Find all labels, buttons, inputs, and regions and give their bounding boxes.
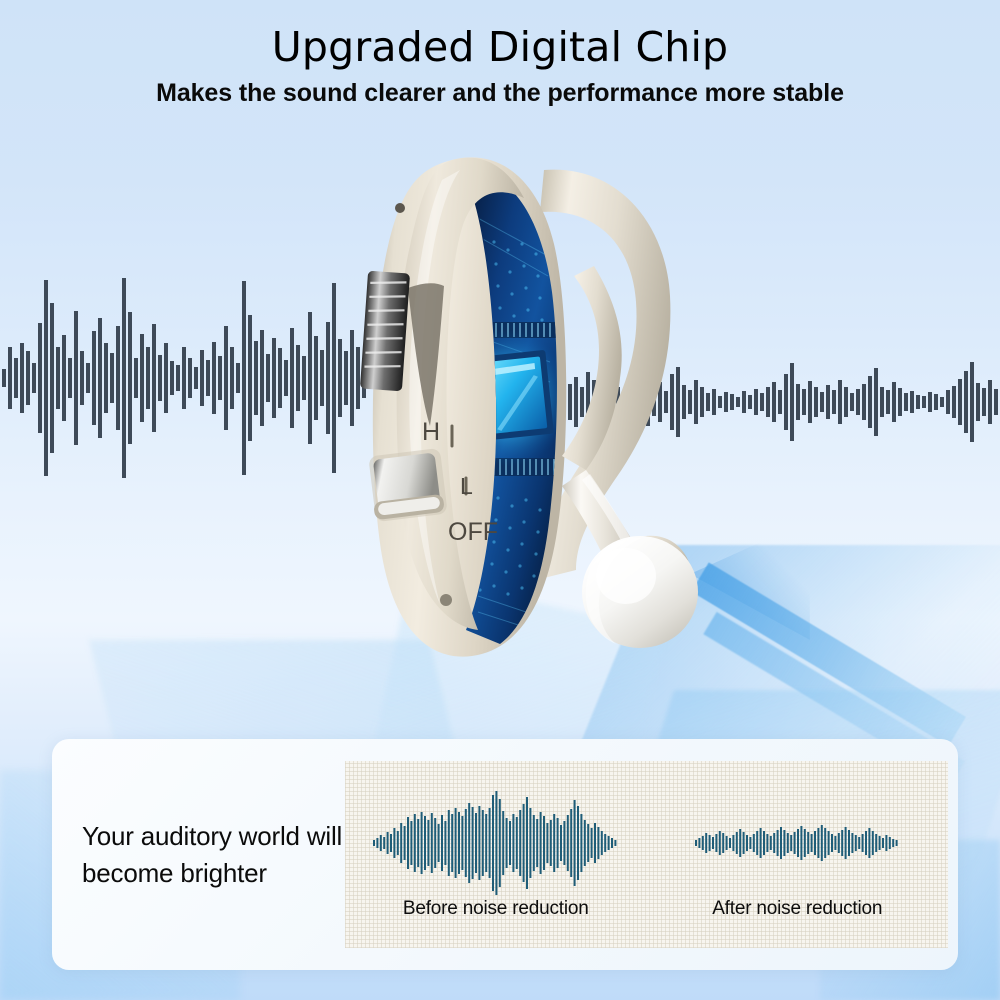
waveform-bar — [850, 393, 854, 411]
waveform-bar — [763, 831, 765, 855]
waveform-bar — [26, 351, 30, 405]
comparison-label-after: After noise reduction — [712, 898, 882, 920]
waveform-bar — [976, 383, 980, 421]
waveform-bar — [98, 318, 102, 438]
waveform-bar — [533, 815, 535, 871]
waveform-bar — [332, 283, 336, 473]
waveform-bar — [964, 371, 968, 433]
ambient-waveform-left — [0, 248, 376, 508]
waveform-bar — [128, 312, 132, 444]
waveform-bar — [218, 356, 222, 400]
waveform-svg — [695, 790, 899, 896]
waveform-bar — [122, 278, 126, 478]
waveform-bar — [904, 393, 908, 411]
waveform-bar — [557, 818, 559, 868]
waveform-bar — [492, 795, 494, 891]
waveform-bar — [448, 810, 450, 876]
waveform-bar — [236, 363, 240, 393]
switch-label-l: L — [460, 473, 473, 499]
waveform-bar — [475, 813, 477, 873]
waveform-bar — [709, 835, 711, 851]
waveform-bar — [880, 387, 884, 417]
waveform-bar — [807, 832, 809, 854]
waveform-bar — [778, 390, 782, 414]
waveform-bar — [598, 827, 600, 859]
waveform-bar — [820, 392, 824, 412]
waveform-bar — [224, 326, 228, 430]
waveform-bar — [320, 350, 324, 406]
waveform-bar — [832, 390, 836, 414]
waveform-bar — [513, 814, 515, 872]
waveform-bar — [808, 381, 812, 423]
waveform-bar — [260, 330, 264, 426]
waveform-bar — [796, 384, 800, 420]
waveform-bar — [577, 806, 579, 880]
comparison-before: Before noise reduction — [357, 790, 634, 920]
waveform-bar — [116, 326, 120, 430]
waveform-bar — [574, 800, 576, 886]
hearing-aid-device: H L OFF — [348, 126, 778, 666]
waveform-bar — [611, 838, 613, 848]
waveform-bar — [547, 823, 549, 863]
switch-label-off: OFF — [448, 518, 498, 546]
waveform-bar — [543, 816, 545, 870]
waveform-bar — [170, 361, 174, 395]
waveform-bar — [892, 839, 894, 847]
waveform-bar — [790, 835, 792, 851]
waveform-svg — [373, 790, 618, 896]
waveform-bar — [158, 355, 162, 401]
volume-wheel[interactable] — [360, 271, 410, 392]
waveform-bar — [50, 303, 54, 453]
waveform-bar — [802, 389, 806, 415]
waveform-bar — [407, 817, 409, 869]
waveform-bar — [462, 816, 464, 870]
waveform-bar — [726, 836, 728, 850]
waveform-bar — [970, 362, 974, 442]
info-card-headline: Your auditory world will become brighter — [82, 818, 345, 892]
waveform-bar — [530, 808, 532, 878]
waveform-bar — [695, 840, 697, 846]
waveform-bar — [104, 343, 108, 413]
waveform-bar — [716, 834, 718, 852]
waveform-bar — [314, 336, 318, 420]
waveform-bar — [743, 832, 745, 854]
waveform-bar — [2, 369, 6, 387]
waveform-bar — [814, 831, 816, 855]
waveform-bar — [699, 838, 701, 848]
waveform-bar — [146, 347, 150, 409]
waveform-bar — [458, 812, 460, 874]
waveform-bar — [826, 385, 830, 419]
page-title: Upgraded Digital Chip — [0, 24, 1000, 71]
waveform-bar — [594, 823, 596, 863]
comparison-label-before: Before noise reduction — [403, 898, 589, 920]
waveform-bar — [134, 358, 138, 398]
waveform-bar — [889, 837, 891, 849]
waveform-bar — [80, 351, 84, 405]
waveform-bar — [767, 834, 769, 852]
waveform-bar — [567, 815, 569, 871]
waveform-bar — [32, 363, 36, 393]
waveform-bar — [68, 358, 72, 398]
waveform-bar — [746, 835, 748, 851]
waveform-bar — [451, 814, 453, 872]
waveform-bar — [278, 348, 282, 408]
waveform-bar — [794, 832, 796, 854]
waveform-bar — [952, 386, 956, 418]
waveform-bar — [828, 831, 830, 855]
waveform-bar — [502, 811, 504, 875]
waveform-bar — [380, 835, 382, 851]
waveform-bar — [302, 356, 306, 400]
waveform-bar — [387, 832, 389, 854]
waveform-bar — [790, 363, 794, 441]
info-card: Your auditory world will become brighter… — [52, 739, 958, 970]
waveform-bar — [377, 838, 379, 848]
waveform-bar — [934, 394, 938, 410]
waveform-bar — [988, 380, 992, 424]
waveform-bar — [424, 816, 426, 870]
header-block: Upgraded Digital Chip Makes the sound cl… — [0, 24, 1000, 108]
waveform-bar — [140, 334, 144, 422]
waveform-bar — [479, 806, 481, 880]
waveform-bar — [940, 397, 944, 407]
waveform-bar — [928, 392, 932, 412]
waveform-bar — [784, 374, 788, 430]
waveform-bar — [760, 828, 762, 858]
waveform-bar — [110, 353, 114, 403]
waveform-bar — [338, 339, 342, 417]
waveform-bar — [519, 810, 521, 876]
waveform-bar — [856, 389, 860, 415]
waveform-bar — [608, 836, 610, 850]
waveform-bar — [841, 830, 843, 856]
waveform-bar — [916, 395, 920, 409]
waveform-bar — [865, 831, 867, 855]
waveform-bar — [581, 814, 583, 872]
waveform-bar — [848, 830, 850, 856]
waveform-bar — [62, 335, 66, 421]
switch-label-h: H — [422, 418, 440, 446]
waveform-bar — [814, 387, 818, 417]
waveform-bar — [397, 831, 399, 855]
waveform-bar — [421, 812, 423, 874]
waveform-after — [695, 790, 899, 896]
waveform-bar — [733, 835, 735, 851]
waveform-bar — [780, 827, 782, 859]
waveform-bar — [722, 833, 724, 853]
waveform-bar — [390, 834, 392, 852]
waveform-bar — [417, 819, 419, 867]
waveform-bar — [784, 830, 786, 856]
waveform-bar — [44, 280, 48, 476]
waveform-bar — [523, 804, 525, 882]
waveform-bar — [489, 808, 491, 878]
waveform-bar — [414, 814, 416, 872]
waveform-bar — [553, 814, 555, 872]
waveform-bar — [499, 799, 501, 887]
waveform-bar — [394, 828, 396, 858]
waveform-bar — [536, 819, 538, 867]
waveform-bar — [272, 338, 276, 418]
waveform-bar — [994, 389, 998, 415]
waveform-bar — [886, 835, 888, 851]
waveform-bar — [496, 791, 498, 895]
waveform-bar — [858, 837, 860, 849]
waveform-bar — [770, 836, 772, 850]
waveform-bar — [838, 380, 842, 424]
waveform-bar — [200, 350, 204, 406]
waveform-bar — [811, 834, 813, 852]
waveform-bar — [20, 343, 24, 413]
waveform-bar — [431, 813, 433, 873]
waveform-bar — [584, 820, 586, 866]
noise-comparison-panel: Before noise reduction After noise reduc… — [345, 761, 948, 948]
waveform-bar — [242, 281, 246, 475]
waveform-bar — [892, 382, 896, 422]
waveform-bar — [74, 311, 78, 445]
waveform-bar — [855, 835, 857, 851]
waveform-bar — [818, 828, 820, 858]
waveform-bar — [844, 387, 848, 417]
waveform-bar — [152, 324, 156, 432]
waveform-bar — [777, 830, 779, 856]
waveform-bar — [739, 829, 741, 857]
waveform-bar — [248, 315, 252, 441]
waveform-bar — [872, 831, 874, 855]
waveform-bar — [570, 809, 572, 877]
waveform-bar — [455, 808, 457, 878]
waveform-bar — [404, 826, 406, 860]
waveform-bar — [875, 834, 877, 852]
waveform-bar — [400, 823, 402, 863]
waveform-bar — [540, 812, 542, 874]
waveform-bar — [886, 390, 890, 414]
comparison-after: After noise reduction — [659, 790, 936, 920]
waveform-bar — [560, 825, 562, 861]
waveform-bar — [212, 342, 216, 414]
waveform-bar — [773, 833, 775, 853]
waveform-bar — [266, 354, 270, 402]
waveform-bar — [14, 358, 18, 398]
waveform-bar — [411, 821, 413, 865]
waveform-bar — [868, 376, 872, 428]
microphone-port-top — [395, 203, 405, 213]
waveform-bar — [516, 817, 518, 869]
waveform-bar — [982, 388, 986, 416]
waveform-bar — [164, 343, 168, 413]
waveform-bar — [550, 820, 552, 866]
waveform-bar — [284, 360, 288, 396]
waveform-bar — [206, 360, 210, 396]
waveform-bar — [804, 829, 806, 857]
waveform-bar — [838, 833, 840, 853]
waveform-bar — [482, 810, 484, 876]
ear-tip-bud — [582, 536, 698, 648]
waveform-bar — [509, 821, 511, 865]
waveform-bar — [86, 363, 90, 393]
waveform-bar — [326, 322, 330, 434]
waveform-bar — [835, 836, 837, 850]
waveform-bar — [308, 312, 312, 444]
waveform-bar — [702, 836, 704, 850]
waveform-bar — [801, 826, 803, 860]
waveform-bar — [604, 834, 606, 852]
waveform-bar — [821, 825, 823, 861]
waveform-bar — [736, 832, 738, 854]
waveform-bar — [824, 828, 826, 858]
waveform-bar — [753, 834, 755, 852]
waveform-bar — [879, 836, 881, 850]
waveform-bar — [56, 347, 60, 409]
waveform-bar — [729, 838, 731, 848]
waveform-bar — [445, 821, 447, 865]
waveform-bar — [373, 840, 375, 846]
waveform-bar — [922, 396, 926, 408]
waveform-bar — [712, 837, 714, 849]
waveform-bar — [485, 814, 487, 872]
waveform-bar — [472, 807, 474, 879]
microphone-port-bottom — [440, 594, 452, 606]
waveform-bar — [705, 833, 707, 853]
waveform-bar — [882, 838, 884, 848]
waveform-bar — [958, 379, 962, 425]
waveform-bar — [506, 818, 508, 868]
waveform-bar — [898, 388, 902, 416]
waveform-bar — [194, 367, 198, 389]
info-card-text: Your auditory world will become brighter — [52, 739, 345, 970]
waveform-bar — [862, 384, 866, 420]
waveform-bar — [869, 828, 871, 858]
waveform-bar — [438, 824, 440, 862]
waveform-before — [373, 790, 618, 896]
poster-canvas: Upgraded Digital Chip Makes the sound cl… — [0, 0, 1000, 1000]
waveform-bar — [8, 347, 12, 409]
waveform-bar — [290, 328, 294, 428]
waveform-bar — [526, 797, 528, 889]
waveform-bar — [254, 341, 258, 415]
waveform-bar — [852, 833, 854, 853]
waveform-bar — [797, 829, 799, 857]
waveform-bar — [946, 390, 950, 414]
waveform-bar — [434, 818, 436, 868]
waveform-bar — [230, 347, 234, 409]
waveform-bar — [468, 803, 470, 883]
waveform-bar — [719, 831, 721, 855]
waveform-bar — [176, 365, 180, 391]
waveform-bar — [38, 323, 42, 433]
waveform-bar — [182, 347, 186, 409]
waveform-bar — [787, 833, 789, 853]
page-subtitle: Makes the sound clearer and the performa… — [0, 79, 1000, 108]
waveform-bar — [831, 834, 833, 852]
waveform-bar — [601, 831, 603, 855]
mode-switch[interactable] — [368, 448, 448, 522]
waveform-bar — [92, 331, 96, 425]
waveform-bar — [910, 391, 914, 413]
waveform-bar — [188, 358, 192, 398]
waveform-bar — [465, 809, 467, 877]
waveform-bar — [845, 827, 847, 859]
waveform-bar — [441, 815, 443, 871]
waveform-bar — [296, 345, 300, 411]
waveform-bar — [591, 828, 593, 858]
waveform-bar — [862, 834, 864, 852]
waveform-bar — [383, 837, 385, 849]
waveform-bar — [874, 368, 878, 436]
waveform-bar — [428, 820, 430, 866]
waveform-bar — [896, 840, 898, 846]
waveform-bar — [756, 831, 758, 855]
waveform-bar — [750, 837, 752, 849]
waveform-bar — [564, 821, 566, 865]
waveform-bar — [587, 824, 589, 862]
waveform-bar — [615, 840, 617, 846]
